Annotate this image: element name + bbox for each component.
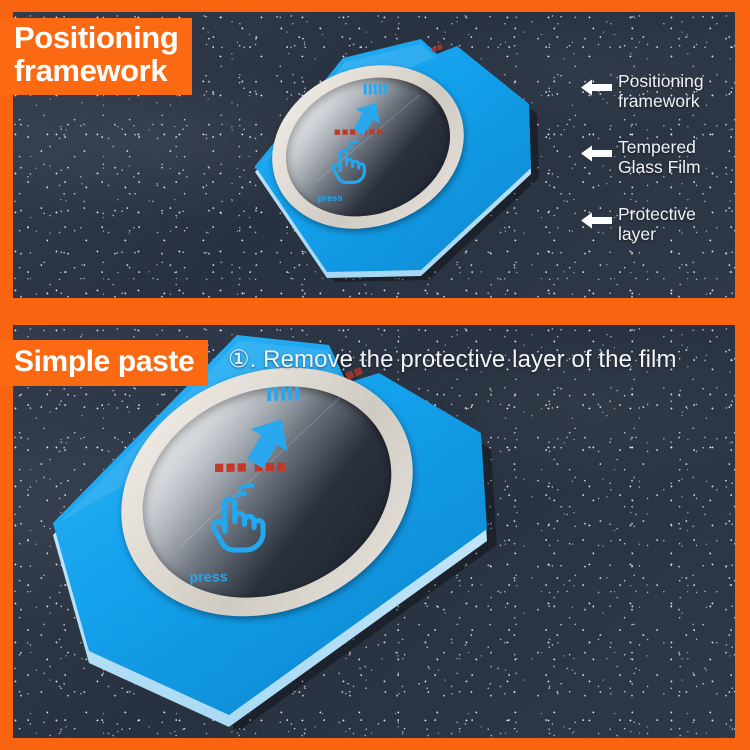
press-label-top: press: [318, 193, 343, 203]
left-arrow-icon: [581, 145, 612, 162]
callout-label: Tempered Glass Film: [618, 138, 701, 178]
infographic-page: press ■■■ ■■■ ■■ Positioning fr: [0, 0, 750, 750]
barcode-icon-bottom: [267, 382, 299, 401]
up-right-arrow-icon-bottom: [237, 412, 300, 471]
press-hand-icon: [198, 483, 273, 554]
press-label-bottom: press: [189, 568, 228, 585]
headline-positioning-framework: Positioning framework: [0, 18, 192, 95]
barcode-icon-top: [364, 83, 387, 94]
left-arrow-icon: [581, 79, 612, 96]
up-right-arrow-icon-top: [347, 98, 388, 137]
panel-simple-paste: press ■■■ ■■■ ■■: [13, 325, 735, 738]
callout-label: Protective layer: [618, 205, 696, 245]
callout-positioning-framework: Positioning framework: [581, 72, 704, 112]
callout-protective-layer: Protective layer: [581, 205, 696, 245]
product-positioning-frame-top: press ■■■ ■■■ ■■: [235, 20, 555, 282]
left-arrow-icon: [581, 212, 612, 229]
callout-label: Positioning framework: [618, 72, 704, 112]
callout-tempered-glass-film: Tempered Glass Film: [581, 138, 701, 178]
press-hand-icon: [324, 140, 371, 185]
product-positioning-frame-bottom: press ■■■ ■■■ ■■: [33, 325, 533, 738]
headline-simple-paste: Simple paste: [0, 340, 208, 386]
step-instruction-text: ①. Remove the protective layer of the fi…: [228, 345, 677, 374]
